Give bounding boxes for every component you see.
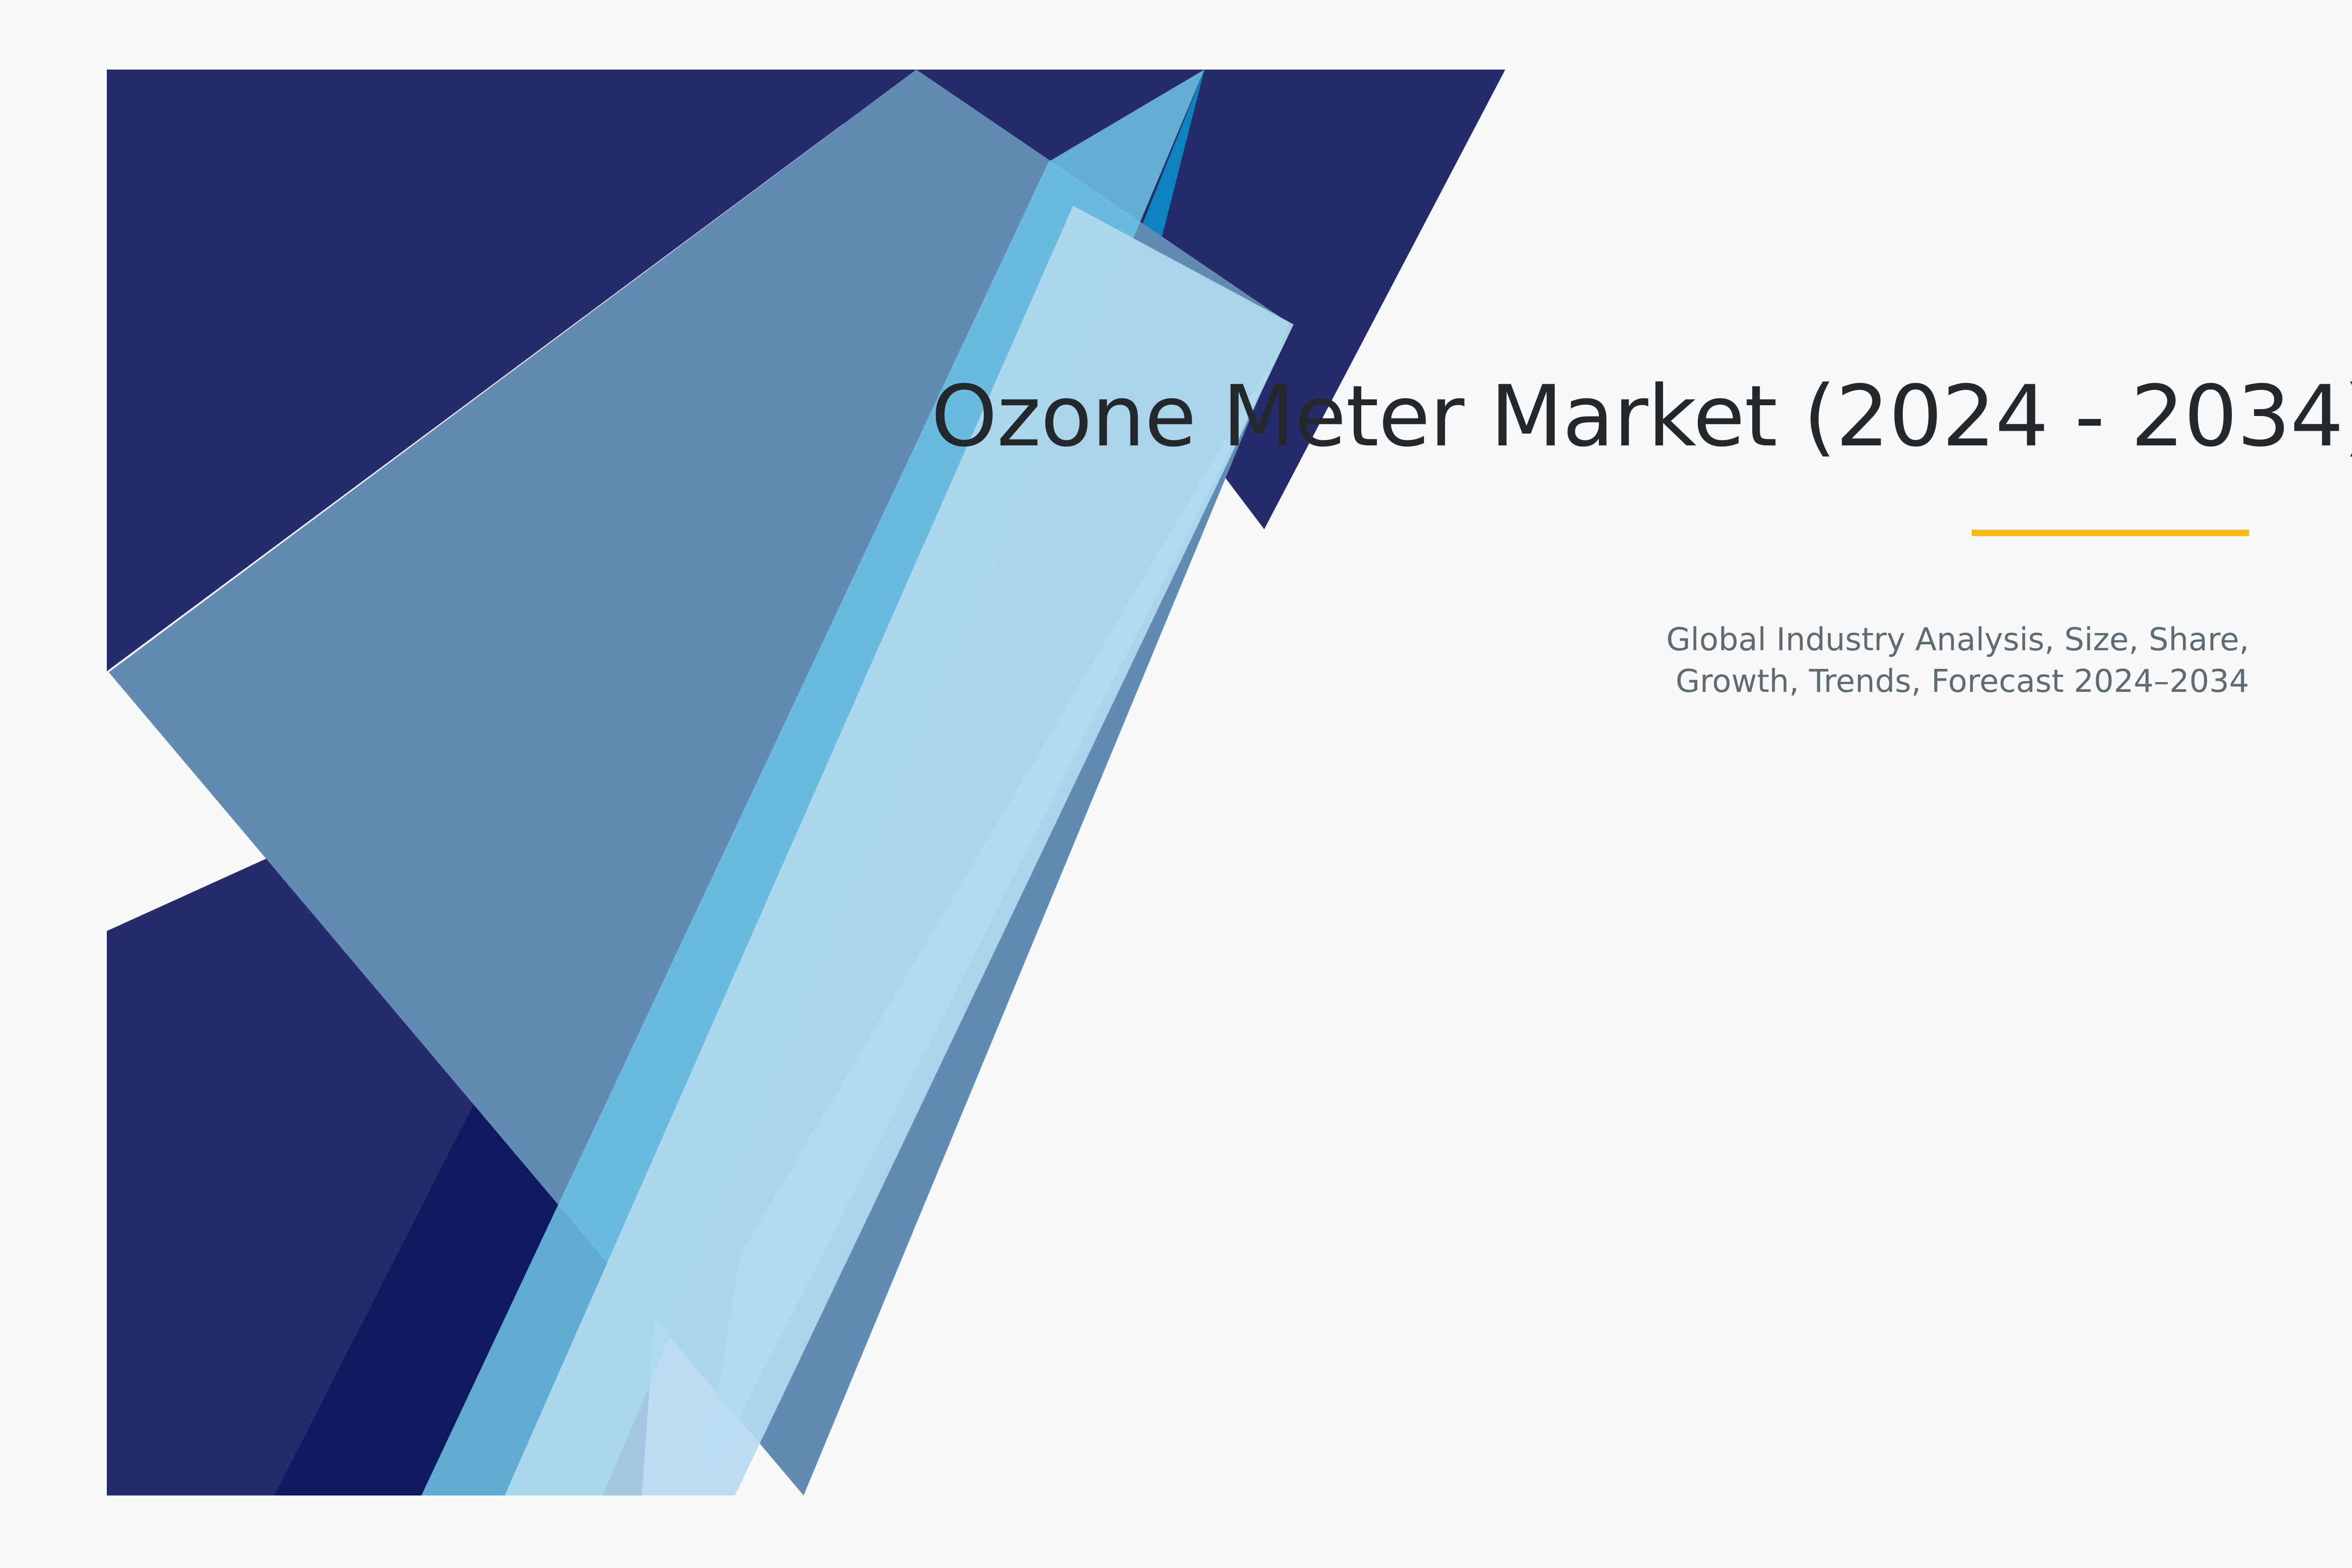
page-title: Ozone Meter Market (2024 - 2034)	[931, 372, 2249, 461]
cover-text-block: Ozone Meter Market (2024 - 2034) Global …	[931, 372, 2249, 703]
page-subtitle: Global Industry Analysis, Size, Share, G…	[1612, 619, 2249, 704]
accent-rule	[1972, 530, 2249, 536]
abstract-geometric-artwork	[0, 0, 2352, 1568]
cover-page: Ozone Meter Market (2024 - 2034) Global …	[0, 0, 2352, 1568]
